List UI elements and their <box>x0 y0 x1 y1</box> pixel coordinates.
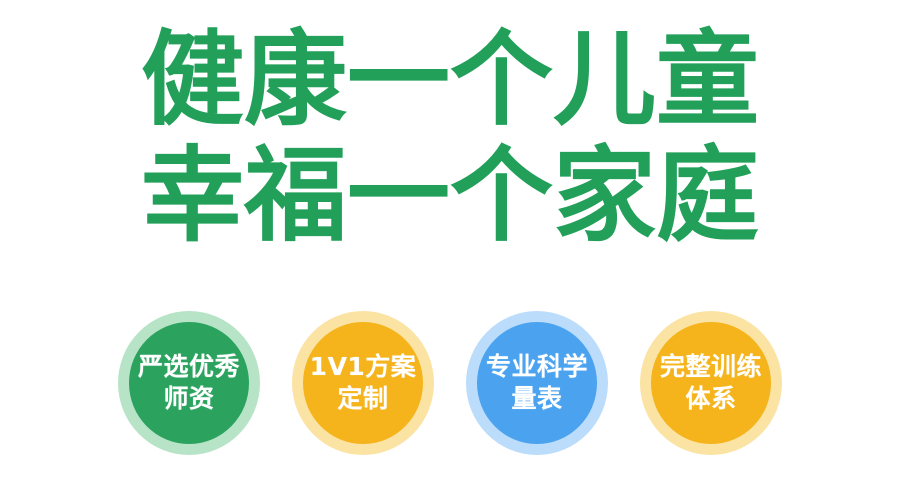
headline-line-2: 幸福一个家庭 <box>0 138 900 254</box>
feature-badge-row: 严选优秀师资 1V1方案定制 专业科学量表 完整训练体系 <box>0 310 900 456</box>
feature-badge-scientific-scale[interactable]: 专业科学量表 <box>466 311 608 455</box>
badge-label: 专业科学量表 <box>483 351 591 415</box>
feature-badge-complete-training[interactable]: 完整训练体系 <box>640 311 782 455</box>
badge-label: 1V1方案定制 <box>309 351 417 415</box>
badge-label: 严选优秀师资 <box>135 351 243 415</box>
feature-badge-one-on-one-plan[interactable]: 1V1方案定制 <box>292 311 434 455</box>
poster-canvas: 健康一个儿童 幸福一个家庭 严选优秀师资 1V1方案定制 专业科学量表 完整训练… <box>0 0 900 504</box>
badge-label: 完整训练体系 <box>657 351 765 415</box>
headline-line-1: 健康一个儿童 <box>0 22 900 138</box>
feature-badge-expert-teachers[interactable]: 严选优秀师资 <box>118 311 260 455</box>
headline-block: 健康一个儿童 幸福一个家庭 <box>0 22 900 254</box>
